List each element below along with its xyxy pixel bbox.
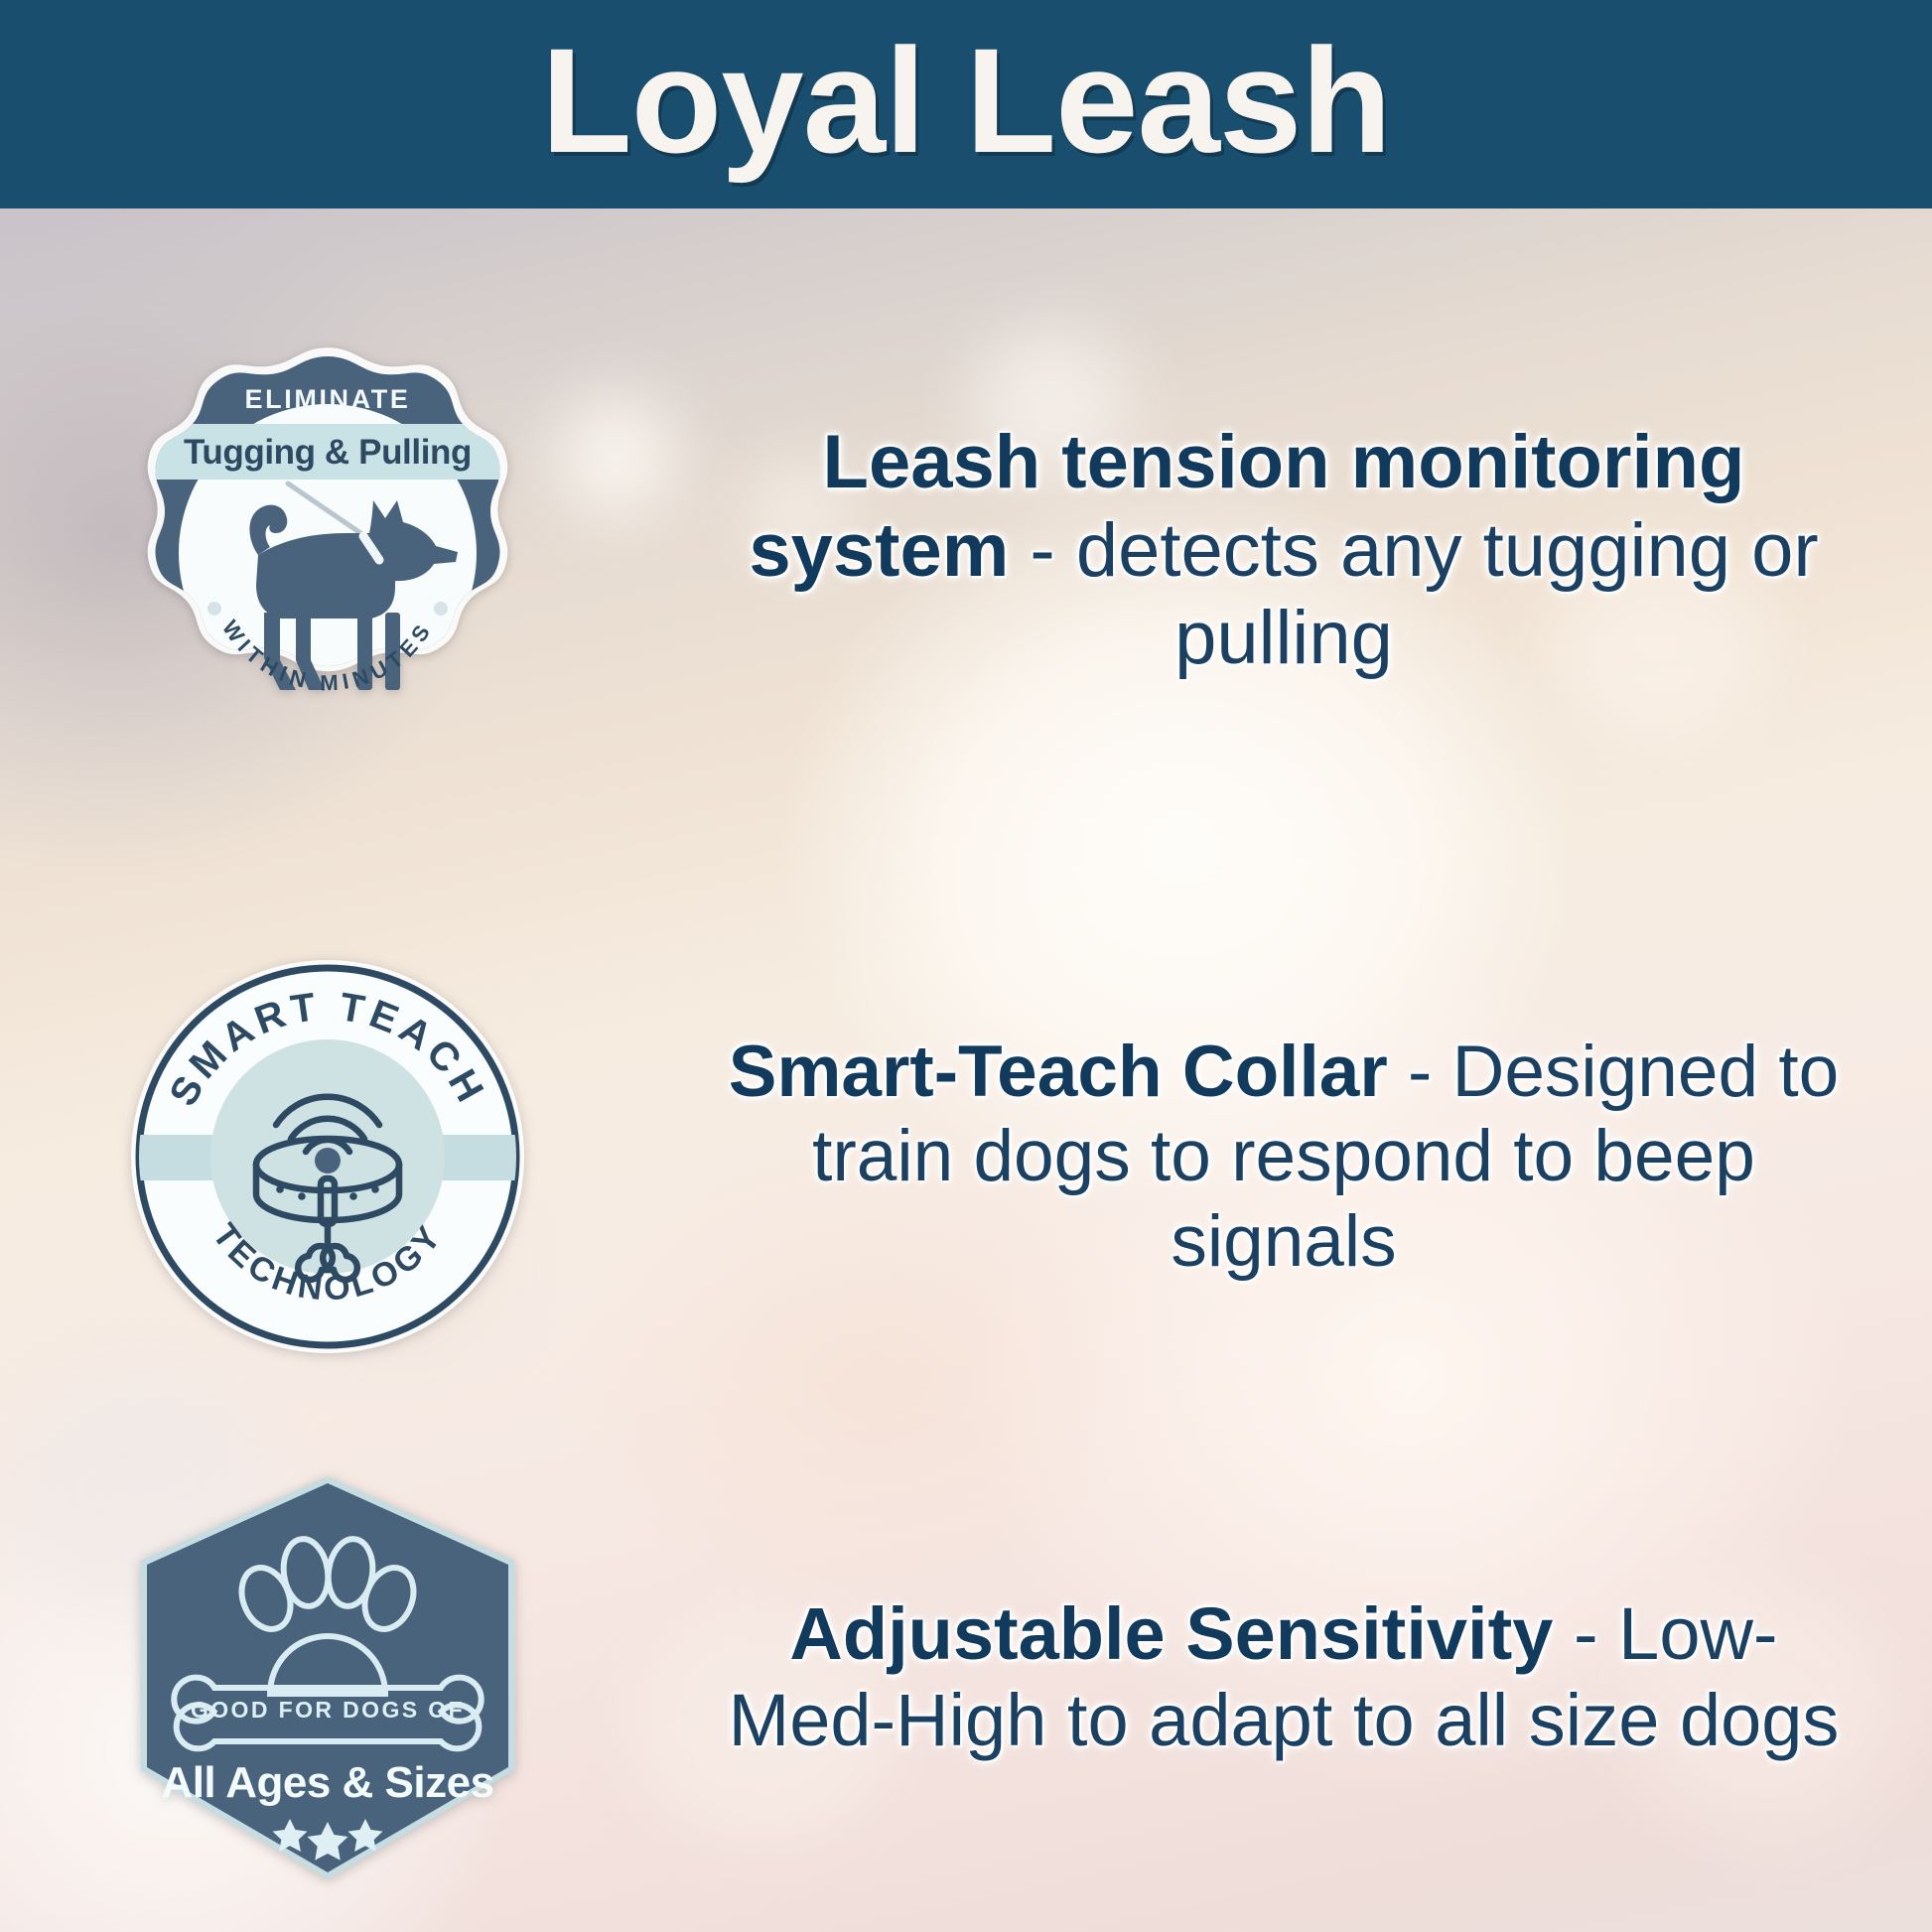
text-cell-1: Leash tension monitoring system - detect… xyxy=(655,419,1932,684)
infographic-canvas: Loyal Leash xyxy=(0,0,1932,1932)
feature-row-adjustable-sensitivity: GOOD FOR DOGS OF All Ages & Sizes Adjust… xyxy=(0,1420,1932,1932)
feature-body-1: - detects any tugging or pulling xyxy=(1009,508,1818,681)
badge-3-main-label: All Ages & Sizes xyxy=(161,1758,493,1807)
page-title: Loyal Leash xyxy=(541,26,1391,175)
smart-teach-technology-badge: SMART TEACH TECHNOLOGY xyxy=(129,958,526,1355)
feature-text-adjustable-sensitivity: Adjustable Sensitivity - Low-Med-High to… xyxy=(708,1591,1860,1763)
badge-cell-2: SMART TEACH TECHNOLOGY xyxy=(0,958,655,1355)
feature-headline-2: Smart-Teach Collar xyxy=(729,1032,1388,1112)
feature-row-smart-teach: SMART TEACH TECHNOLOGY xyxy=(0,879,1932,1435)
all-ages-sizes-badge: GOOD FOR DOGS OF All Ages & Sizes xyxy=(119,1469,536,1886)
badge-1-top-label: ELIMINATE xyxy=(245,384,411,414)
badge-1-banner-label: Tugging & Pulling xyxy=(184,433,472,472)
feature-text-leash-tension: Leash tension monitoring system - detect… xyxy=(698,419,1869,684)
feature-row-leash-tension: ELIMINATE Tugging & Pulling xyxy=(0,273,1932,829)
text-cell-3: Adjustable Sensitivity - Low-Med-High to… xyxy=(655,1591,1932,1763)
badge-cell-1: ELIMINATE Tugging & Pulling xyxy=(0,343,655,759)
feature-text-smart-teach: Smart-Teach Collar - Designed to train d… xyxy=(728,1030,1840,1284)
badge-cell-3: GOOD FOR DOGS OF All Ages & Sizes xyxy=(0,1469,655,1886)
badge-3-bone-label: GOOD FOR DOGS OF xyxy=(191,1697,465,1723)
header-bar: Loyal Leash xyxy=(0,0,1932,208)
text-cell-2: Smart-Teach Collar - Designed to train d… xyxy=(655,1030,1932,1284)
feature-headline-3: Adjustable Sensitivity xyxy=(789,1592,1553,1675)
eliminate-tugging-pulling-badge: ELIMINATE Tugging & Pulling xyxy=(119,343,536,759)
